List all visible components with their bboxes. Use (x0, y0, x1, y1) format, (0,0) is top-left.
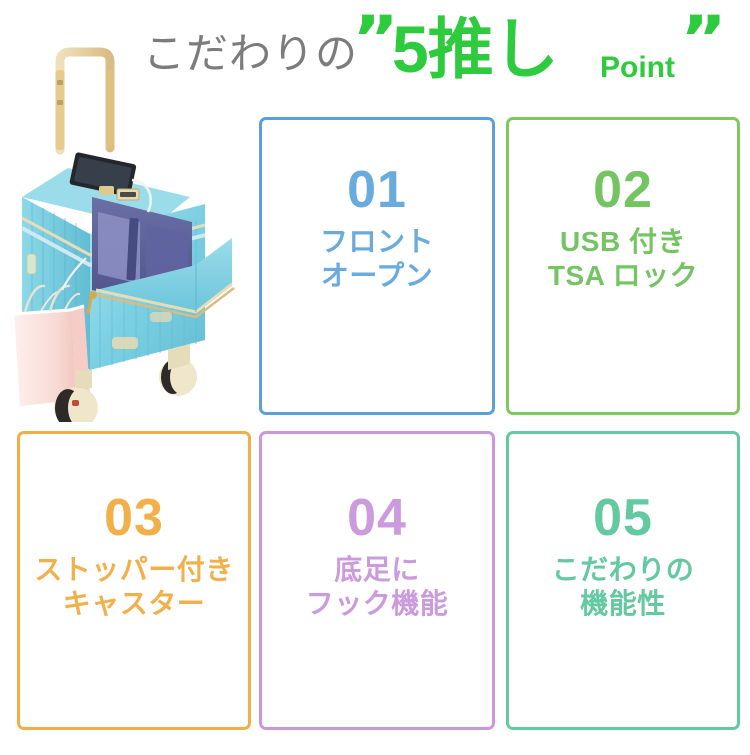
brand-plate (112, 337, 138, 349)
header-suffix-text: Point (600, 53, 675, 83)
feature-label: 底足に フック機能 (306, 553, 449, 621)
feature-label: ストッパー付き キャスター (34, 553, 234, 621)
side-grab-handle (27, 254, 36, 274)
feature-number: 03 (104, 492, 164, 544)
feature-card-functionality[interactable]: 05 こだわりの 機能性 (506, 431, 740, 730)
feature-card-front-open[interactable]: 01 フロント オープン (259, 117, 495, 415)
feature-card-bottom-hook[interactable]: 04 底足に フック機能 (259, 431, 495, 730)
feature-card-usb-tsa-lock[interactable]: 02 USB 付き TSA ロック (506, 117, 740, 415)
product-image-suitcase (0, 22, 255, 422)
feature-card-stopper-caster[interactable]: 03 ストッパー付き キャスター (17, 431, 251, 730)
page-title: 5推し (392, 16, 558, 82)
feature-number: 04 (347, 492, 407, 544)
wheel-stopper (72, 400, 79, 406)
feature-label: フロント オープン (320, 225, 434, 293)
front-open-compartment (88, 197, 234, 317)
feature-number: 01 (347, 164, 407, 216)
feature-label: USB 付き TSA ロック (548, 225, 698, 293)
quote-close-icon: ” (680, 8, 727, 70)
feature-number: 05 (593, 492, 653, 544)
feature-label: こだわりの 機能性 (552, 553, 695, 621)
telescoping-handle (56, 52, 115, 150)
feature-number: 02 (593, 164, 653, 216)
